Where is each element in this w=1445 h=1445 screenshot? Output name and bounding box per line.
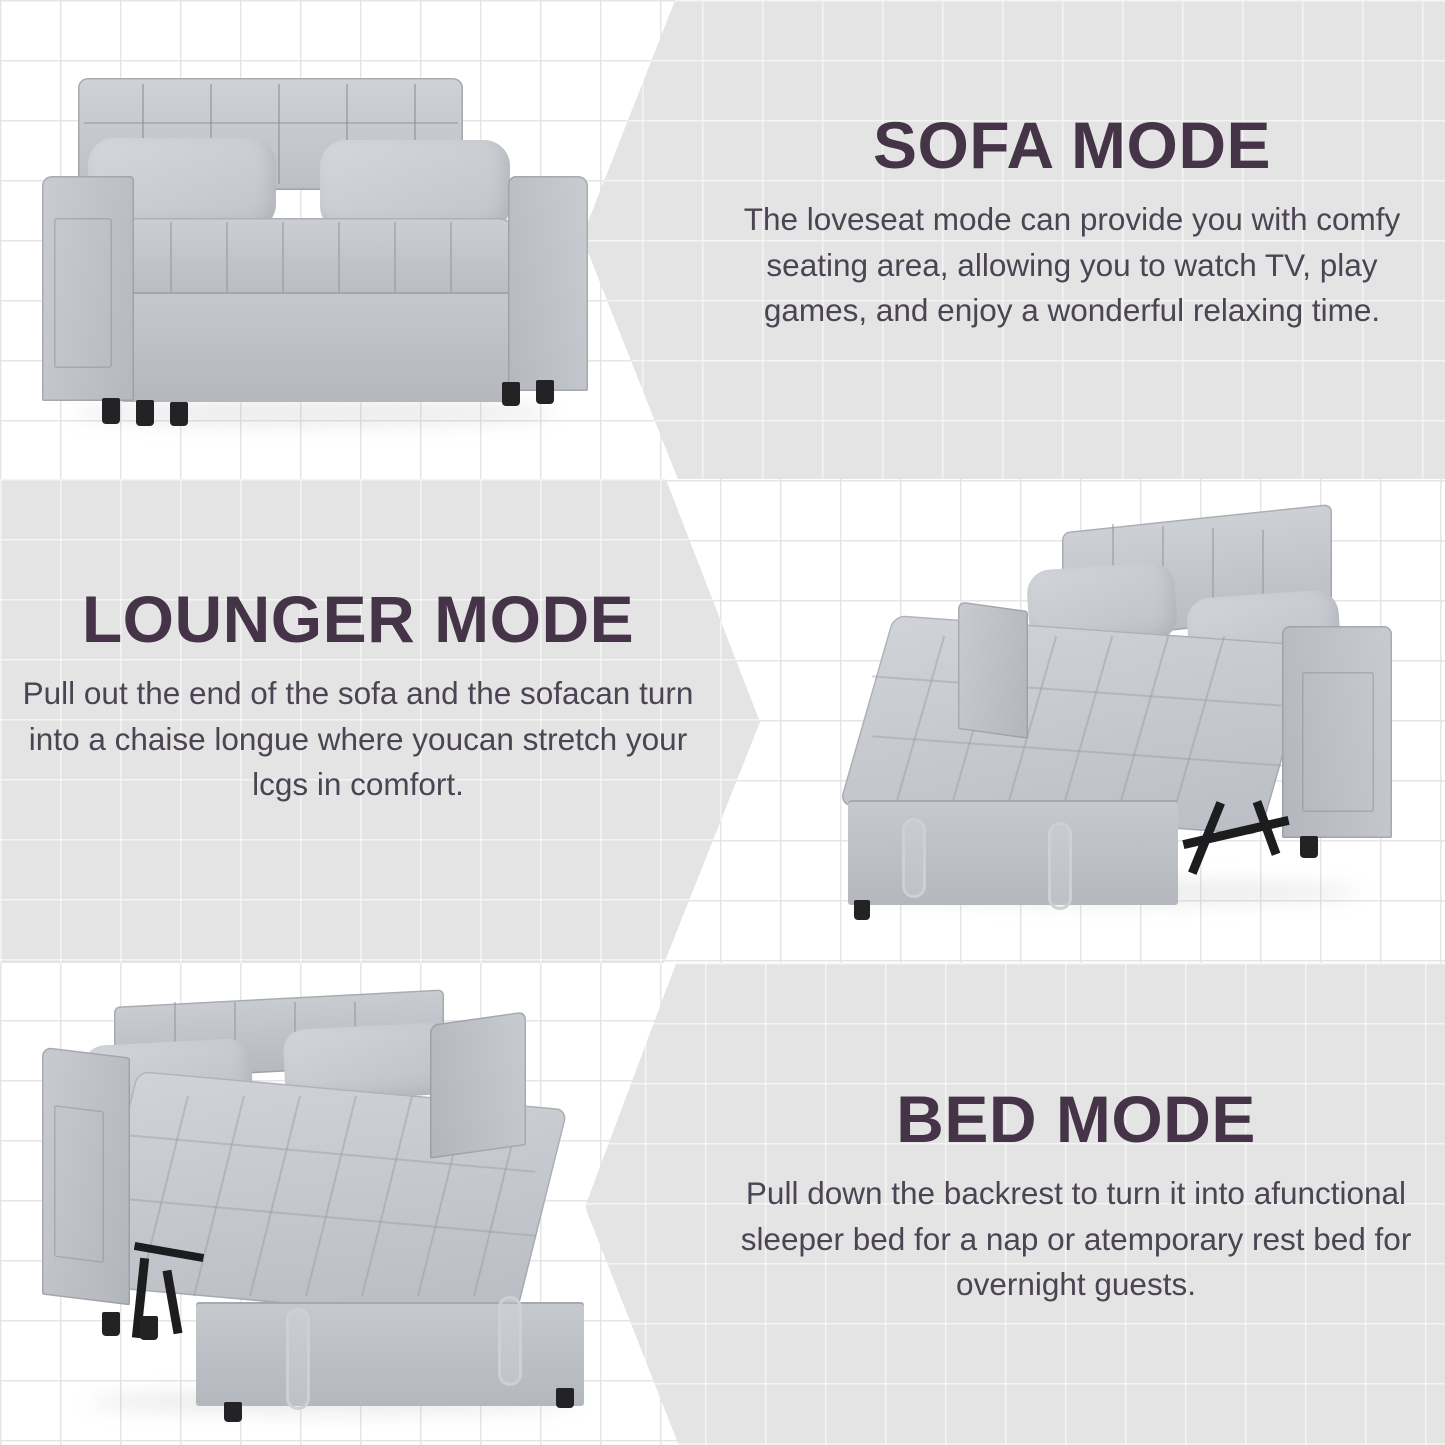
lounger-mode-image (830, 500, 1410, 920)
pull-handle (498, 1296, 522, 1386)
bed-mode-text-block: BED MODE Pull down the backrest to turn … (726, 1086, 1426, 1307)
sofa-mode-image (30, 70, 590, 440)
lounger-leg (854, 900, 870, 920)
seat-seam (226, 222, 228, 292)
pull-handle (902, 818, 926, 898)
sofa-leg (170, 402, 188, 426)
lounger-leg (1300, 836, 1318, 858)
armrest-panel-left (54, 218, 112, 368)
pull-handle (1048, 822, 1072, 910)
seat-seam (170, 222, 172, 292)
pull-handle (286, 1308, 310, 1410)
sofa-leg (502, 382, 520, 406)
infographic-page: SOFA MODE The loveseat mode can provide … (0, 0, 1445, 1445)
bed-leg (140, 1316, 158, 1340)
seat-seam (450, 222, 452, 292)
lounger-mode-text-block: LOUNGER MODE Pull out the end of the sof… (8, 586, 708, 807)
armrest-panel-right (1302, 672, 1374, 812)
backrest-seam (278, 84, 280, 184)
bed-leg (102, 1312, 120, 1336)
bed-pullout-box (196, 1302, 584, 1406)
lounger-pullout-box (848, 800, 1178, 905)
seat-seam (394, 222, 396, 292)
backrest-seam (84, 122, 458, 124)
sofa-base (120, 292, 520, 402)
sofa-armrest-right (508, 176, 588, 391)
lounger-mode-title: LOUNGER MODE (8, 586, 708, 653)
bed-mode-title: BED MODE (726, 1086, 1426, 1153)
bed-leg (556, 1388, 574, 1408)
sofa-mode-text-block: SOFA MODE The loveseat mode can provide … (722, 112, 1422, 333)
bed-mode-description: Pull down the backrest to turn it into a… (726, 1171, 1426, 1307)
sofa-leg (136, 400, 154, 426)
bed-mode-image (28, 990, 628, 1430)
seat-seam (282, 222, 284, 292)
armrest-panel-left (54, 1105, 104, 1263)
sofa-leg (102, 398, 120, 424)
sofa-mode-description: The loveseat mode can provide you with c… (722, 197, 1422, 333)
lounger-mode-description: Pull out the end of the sofa and the sof… (8, 671, 708, 807)
bed-armrest-right (430, 1011, 526, 1158)
sofa-mode-title: SOFA MODE (722, 112, 1422, 179)
bed-leg (224, 1402, 242, 1422)
sofa-seat-cushion (115, 218, 515, 296)
seat-seam (338, 222, 340, 292)
lounger-armrest-left (958, 601, 1028, 739)
sofa-leg (536, 380, 554, 404)
